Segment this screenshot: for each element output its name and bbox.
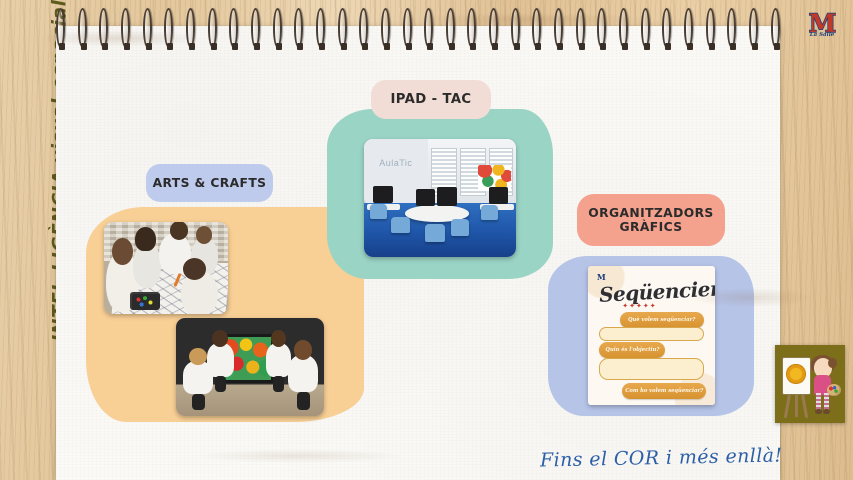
classroom-wall-sign: AulaTic <box>379 158 412 168</box>
organizer-question-2[interactable]: Quin és l'objectiu? <box>599 342 665 358</box>
photo-crafts-table-image <box>104 222 228 314</box>
photo-computer-classroom-image: AulaTic <box>364 139 516 257</box>
photo-graphic-organizer[interactable]: M Seqüenciem? ✦✦✦✦✦ Què volem seqüenciar… <box>588 266 715 405</box>
organizer-answer-box-1[interactable] <box>599 327 703 341</box>
organizer-answer-box-2[interactable] <box>599 358 703 380</box>
photo-abstract-painting[interactable] <box>176 318 324 416</box>
photo-crafts-table[interactable] <box>104 222 228 314</box>
label-organitzadors-grafics[interactable]: ORGANITZADORS GRÀFICS <box>577 194 725 246</box>
school-logo-subtitle: La Salle <box>810 32 835 38</box>
label-ipad-tac[interactable]: IPAD - TAC <box>371 80 491 119</box>
school-logo: M La Salle <box>800 9 844 43</box>
organizer-logo: M <box>597 272 606 282</box>
photo-computer-classroom[interactable]: AulaTic <box>364 139 516 257</box>
organizer-question-1[interactable]: Què volem seqüenciar? <box>620 312 704 328</box>
desk-background: INTEL·LIGÈNCIA visual-espacial ARTS & CR… <box>0 0 853 480</box>
label-arts-crafts[interactable]: ARTS & CRAFTS <box>146 164 273 202</box>
organizer-stars: ✦✦✦✦✦ <box>622 302 656 310</box>
school-logo-mark: M <box>809 14 836 35</box>
painter-girl-icon <box>775 345 845 423</box>
graphic-organizer-sheet: M Seqüenciem? ✦✦✦✦✦ Què volem seqüenciar… <box>588 266 715 405</box>
organizer-question-3[interactable]: Com ho volem seqüenciar? <box>622 383 706 399</box>
photo-abstract-painting-image <box>176 318 324 416</box>
